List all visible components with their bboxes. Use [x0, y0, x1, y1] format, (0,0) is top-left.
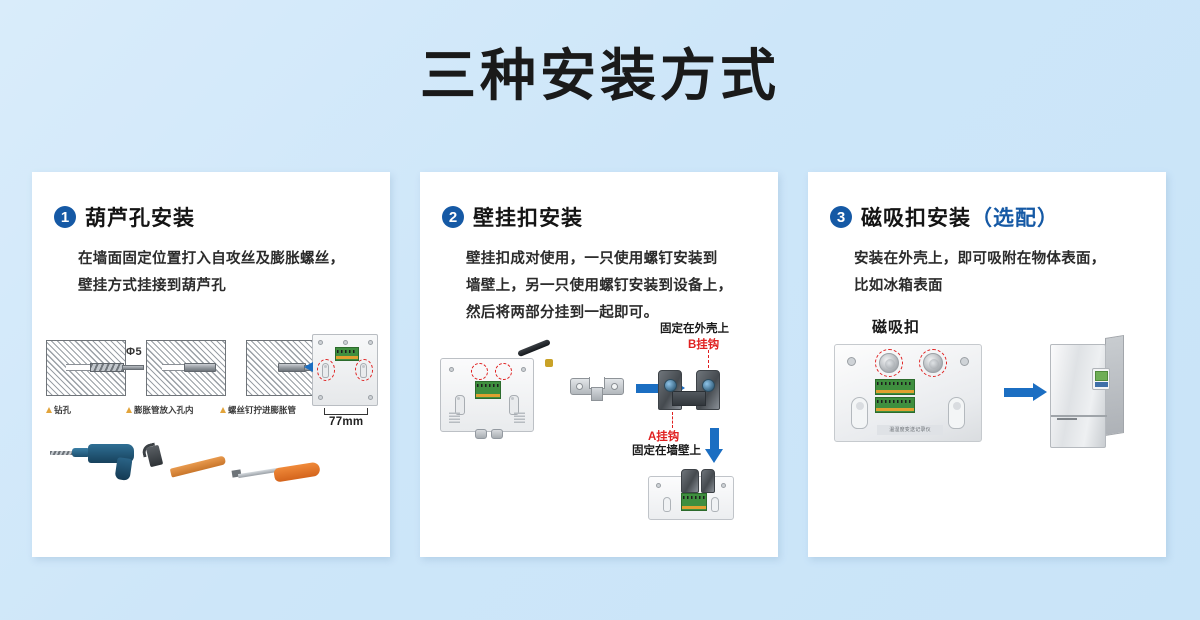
terminal-block-icon [875, 379, 915, 395]
screw-hole-icon [656, 483, 661, 488]
terminal-pins [337, 350, 357, 353]
figure-magnetic-mount: 磁吸扣 温湿度变送记录仪 [808, 312, 1166, 557]
terminal-pins [877, 400, 913, 403]
drill-handle-icon [115, 457, 133, 481]
drill-bit-shaft-icon [122, 365, 144, 370]
device-label-band [1095, 382, 1108, 387]
step-caption: 螺丝钉拧进膨胀管 [220, 404, 296, 416]
terminal-pins [477, 384, 499, 387]
hammer-head-icon [146, 445, 163, 468]
device-with-magnets: 温湿度变送记录仪 [834, 344, 982, 442]
description-line: 安装在外壳上，即可吸附在物体表面， [854, 246, 1146, 273]
mounting-foot-icon [491, 429, 503, 439]
drill-bit-icon [50, 451, 74, 455]
figure-hole-mount: Φ5 [32, 330, 390, 557]
process-arrow-right-icon [1004, 388, 1034, 397]
refrigerator-icon [1050, 338, 1124, 448]
terminal-strip [336, 356, 358, 359]
card-description: 壁挂扣成对使用，一只使用螺钉安装到 墙壁上，另一只使用螺钉安装到设备上， 然后将… [420, 232, 778, 326]
hook-mounted [681, 469, 699, 493]
hook-screw-icon [664, 379, 677, 392]
device-screen [1095, 371, 1108, 381]
keyhole-slot [948, 397, 965, 429]
screw-hole-icon [318, 395, 323, 400]
expansion-plug-icon [278, 363, 306, 372]
description-line: 比如冰箱表面 [854, 273, 1146, 300]
highlight-circle [919, 349, 947, 377]
page-title: 三种安装方式 [0, 0, 1200, 104]
label-hook-b: B挂钩 [688, 336, 719, 352]
card-description: 在墙面固定位置打入自攻丝及膨胀螺丝， 壁挂方式挂接到葫芦孔 [32, 232, 390, 300]
drilled-hole [162, 364, 186, 371]
card-title: 葫芦孔安装 [85, 202, 195, 232]
description-line: 壁挂方式挂接到葫芦孔 [78, 273, 370, 300]
terminal-block-icon [681, 493, 707, 511]
device-backplate [312, 334, 378, 406]
insert-arrow-icon [304, 362, 313, 372]
screw-hole-icon [847, 357, 856, 366]
screw-hole-icon [318, 340, 323, 345]
screw-hole-icon [449, 367, 454, 372]
tool-row [42, 438, 342, 492]
step-captions: 钻孔 膨胀管放入孔内 螺丝钉拧进膨胀管 [42, 404, 332, 422]
keyhole-slot [663, 497, 671, 512]
terminal-strip [876, 408, 914, 411]
antenna-base-icon [545, 359, 553, 367]
magnet-label: 磁吸扣 [872, 316, 920, 337]
highlight-circle [471, 363, 488, 380]
step-badge-3: 3 [830, 206, 852, 228]
process-arrow-down-icon [710, 428, 719, 450]
description-line: 墙壁上，另一只使用螺钉安装到设备上， [466, 273, 758, 300]
antenna-icon [517, 339, 551, 357]
screw-hole-icon [368, 395, 373, 400]
description-line: 壁挂扣成对使用，一只使用螺钉安装到 [466, 246, 758, 273]
device-model-text: 温湿度变送记录仪 [877, 425, 943, 435]
figure-wall-buckle: 固定在外壳上 B挂钩 A挂钩 固定在墙壁上 [420, 342, 778, 557]
mounting-foot-icon [475, 429, 487, 439]
screw-hole-icon [368, 340, 373, 345]
hook-screw-icon [702, 379, 715, 392]
card-title: 壁挂扣安装 [473, 202, 583, 232]
label-fix-to-wall: 固定在墙壁上 [632, 442, 701, 458]
fridge-door-split [1051, 415, 1107, 417]
step-badge-1: 1 [54, 206, 76, 228]
terminal-strip [476, 394, 500, 397]
dimension-label: 77mm [329, 416, 363, 428]
device-assembled [648, 476, 734, 520]
wall-buckle-flat [570, 378, 624, 402]
screw-hole-icon [721, 483, 726, 488]
screwdriver-icon [273, 461, 321, 482]
terminal-block-icon [875, 397, 915, 413]
card-hole-mount[interactable]: 1 葫芦孔安装 在墙面固定位置打入自攻丝及膨胀螺丝， 壁挂方式挂接到葫芦孔 Φ5 [32, 172, 390, 557]
terminal-strip [682, 506, 706, 509]
label-fix-to-shell: 固定在外壳上 [660, 320, 729, 336]
vent-icon [449, 411, 460, 423]
keyhole-slot [711, 497, 719, 512]
screw-hole-icon [521, 367, 526, 372]
expansion-plug-icon [184, 363, 216, 372]
hook-assembly [658, 370, 720, 412]
fridge-front-door [1050, 344, 1106, 448]
screw-hole-icon [343, 340, 348, 345]
card-title-text: 壁挂扣安装 [473, 207, 583, 230]
leader-line [672, 412, 673, 428]
screwdriver-shaft-icon [238, 468, 278, 478]
terminal-pins [877, 382, 913, 385]
bracket-hole [576, 383, 583, 390]
bracket-hole [611, 383, 618, 390]
card-wall-buckle-mount[interactable]: 2 壁挂扣安装 壁挂扣成对使用，一只使用螺钉安装到 墙壁上，另一只使用螺钉安装到… [420, 172, 778, 557]
screw-hole-icon [960, 357, 969, 366]
card-title: 磁吸扣安装（选配） [861, 202, 1059, 232]
diameter-label: Φ5 [126, 346, 142, 358]
device-rear-view [440, 358, 534, 432]
step-badge-2: 2 [442, 206, 464, 228]
wall-steps: Φ5 [46, 340, 326, 396]
card-header: 3 磁吸扣安装（选配） [808, 172, 1166, 232]
leader-line [708, 350, 709, 368]
card-header: 2 壁挂扣安装 [420, 172, 778, 232]
terminal-strip [876, 390, 914, 393]
step-caption: 钻孔 [46, 404, 71, 416]
keyhole-slot [851, 397, 868, 429]
drilled-hole [66, 364, 92, 371]
card-title-text: 磁吸扣安装 [861, 207, 971, 230]
description-line: 在墙面固定位置打入自攻丝及膨胀螺丝， [78, 246, 370, 273]
terminal-block-icon [475, 381, 501, 399]
drill-bit-tip-icon [90, 363, 124, 372]
terminal-block-icon [335, 347, 359, 361]
card-title-text: 葫芦孔安装 [85, 207, 195, 230]
hook-mounted [701, 469, 715, 493]
fridge-handle [1057, 418, 1077, 420]
card-magnetic-mount[interactable]: 3 磁吸扣安装（选配） 安装在外壳上，即可吸附在物体表面， 比如冰箱表面 磁吸扣 [808, 172, 1166, 557]
card-title-optional: （选配） [971, 207, 1059, 230]
bracket-tab [591, 387, 603, 401]
vent-icon [514, 411, 525, 423]
card-header: 1 葫芦孔安装 [32, 172, 390, 232]
highlight-circle [317, 359, 335, 381]
installation-methods-row: 1 葫芦孔安装 在墙面固定位置打入自攻丝及膨胀螺丝， 壁挂方式挂接到葫芦孔 Φ5 [32, 172, 1168, 557]
card-description: 安装在外壳上，即可吸附在物体表面， 比如冰箱表面 [808, 232, 1166, 300]
step-caption: 膨胀管放入孔内 [126, 404, 194, 416]
hammer-icon [170, 455, 227, 477]
highlight-circle [495, 363, 512, 380]
highlight-circle [875, 349, 903, 377]
terminal-pins [683, 496, 705, 499]
mounted-device [1092, 368, 1110, 390]
hook-bridge [672, 391, 706, 406]
highlight-circle [355, 359, 373, 381]
